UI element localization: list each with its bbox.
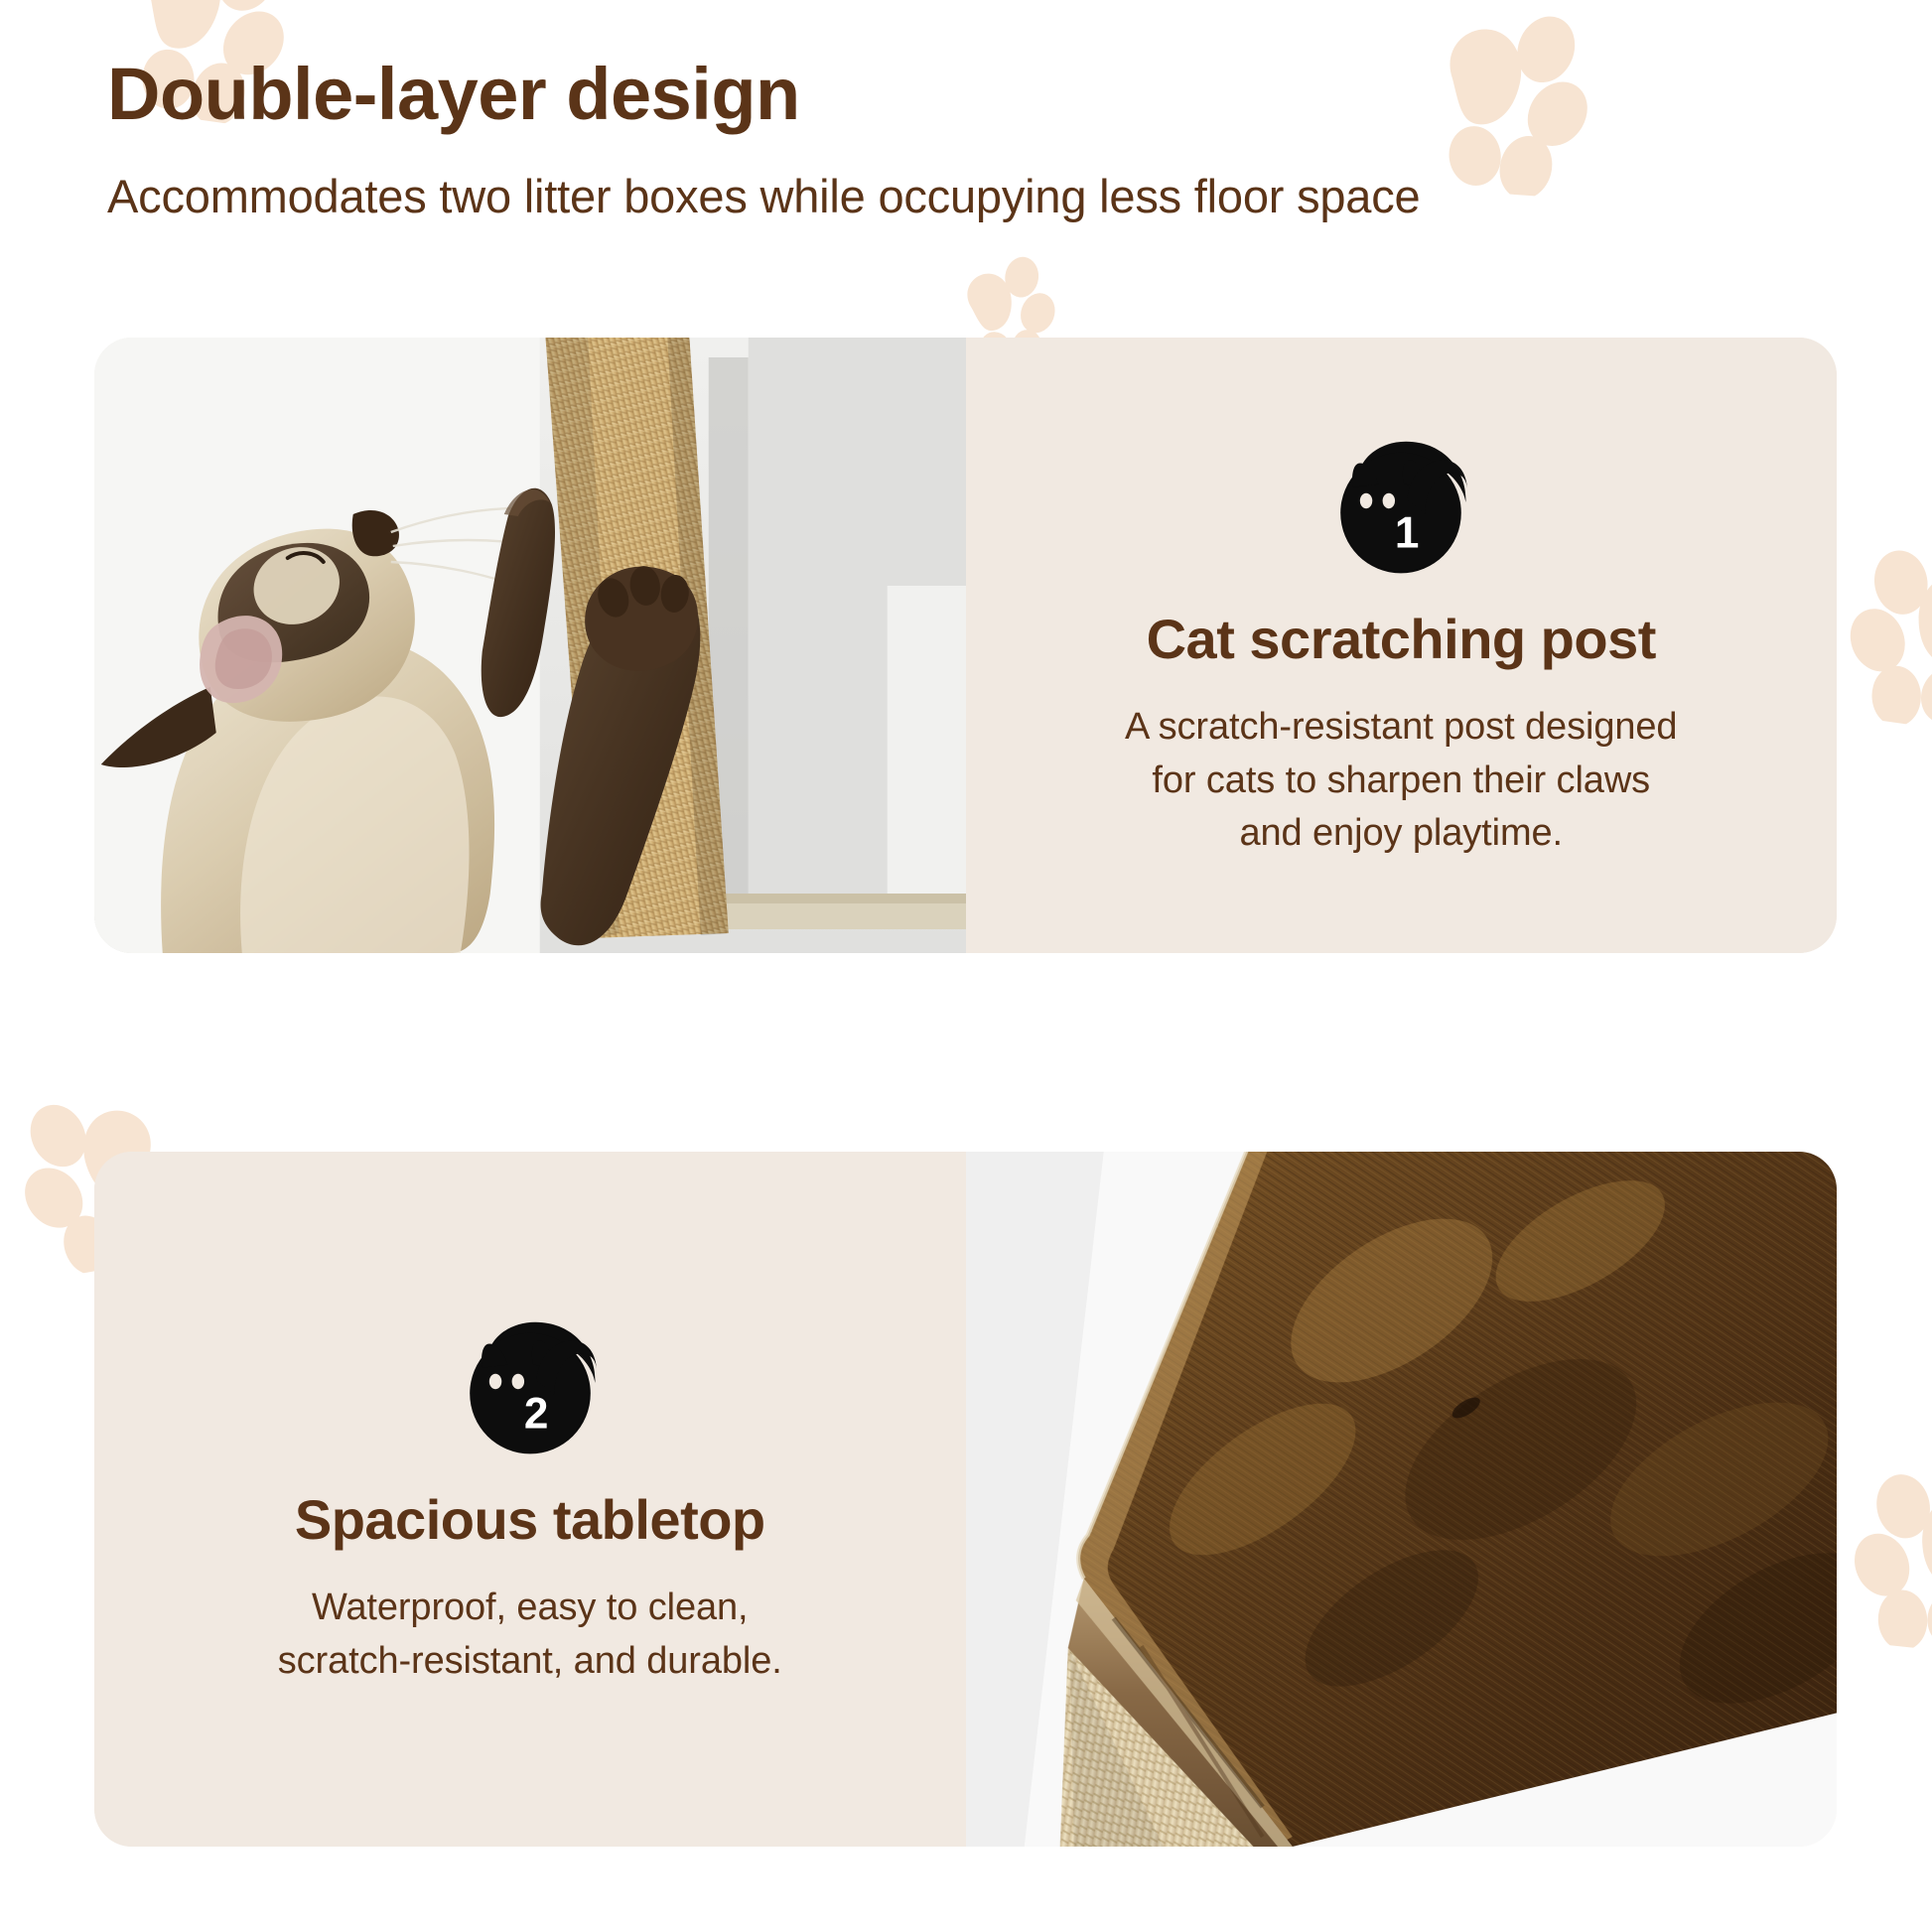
header: Double-layer design Accommodates two lit…	[107, 56, 1835, 223]
page-subtitle: Accommodates two litter boxes while occu…	[107, 169, 1835, 223]
page-title: Double-layer design	[107, 56, 1835, 133]
feature-card-1-text-panel: 1 Cat scratching post A scratch-resistan…	[966, 338, 1838, 953]
feature-card-2: 2 Spacious tabletop Waterproof, easy to …	[94, 1152, 1837, 1847]
feature-card-2-title: Spacious tabletop	[295, 1487, 765, 1552]
photo-wood-tabletop	[966, 1152, 1838, 1847]
photo-cat-scratching-post	[94, 338, 966, 953]
body-line: Waterproof, easy to clean,	[278, 1582, 782, 1635]
body-line: for cats to sharpen their claws	[1125, 755, 1677, 808]
body-line: and enjoy playtime.	[1125, 807, 1677, 861]
cat-badge-icon: 1	[1325, 430, 1476, 581]
body-line: A scratch-resistant post designed	[1125, 701, 1677, 755]
badge-number-1: 1	[1395, 508, 1420, 557]
feature-card-1-body: A scratch-resistant post designed for ca…	[1125, 701, 1677, 862]
feature-card-1: 1 Cat scratching post A scratch-resistan…	[94, 338, 1837, 953]
badge-number-2: 2	[524, 1389, 549, 1438]
feature-card-2-text-panel: 2 Spacious tabletop Waterproof, easy to …	[94, 1152, 966, 1847]
feature-card-2-body: Waterproof, easy to clean, scratch-resis…	[278, 1582, 782, 1689]
body-line: scratch-resistant, and durable.	[278, 1635, 782, 1689]
cat-badge-icon: 2	[455, 1311, 606, 1461]
infographic-page: Double-layer design Accommodates two lit…	[0, 0, 1932, 1932]
feature-card-1-title: Cat scratching post	[1147, 607, 1656, 671]
